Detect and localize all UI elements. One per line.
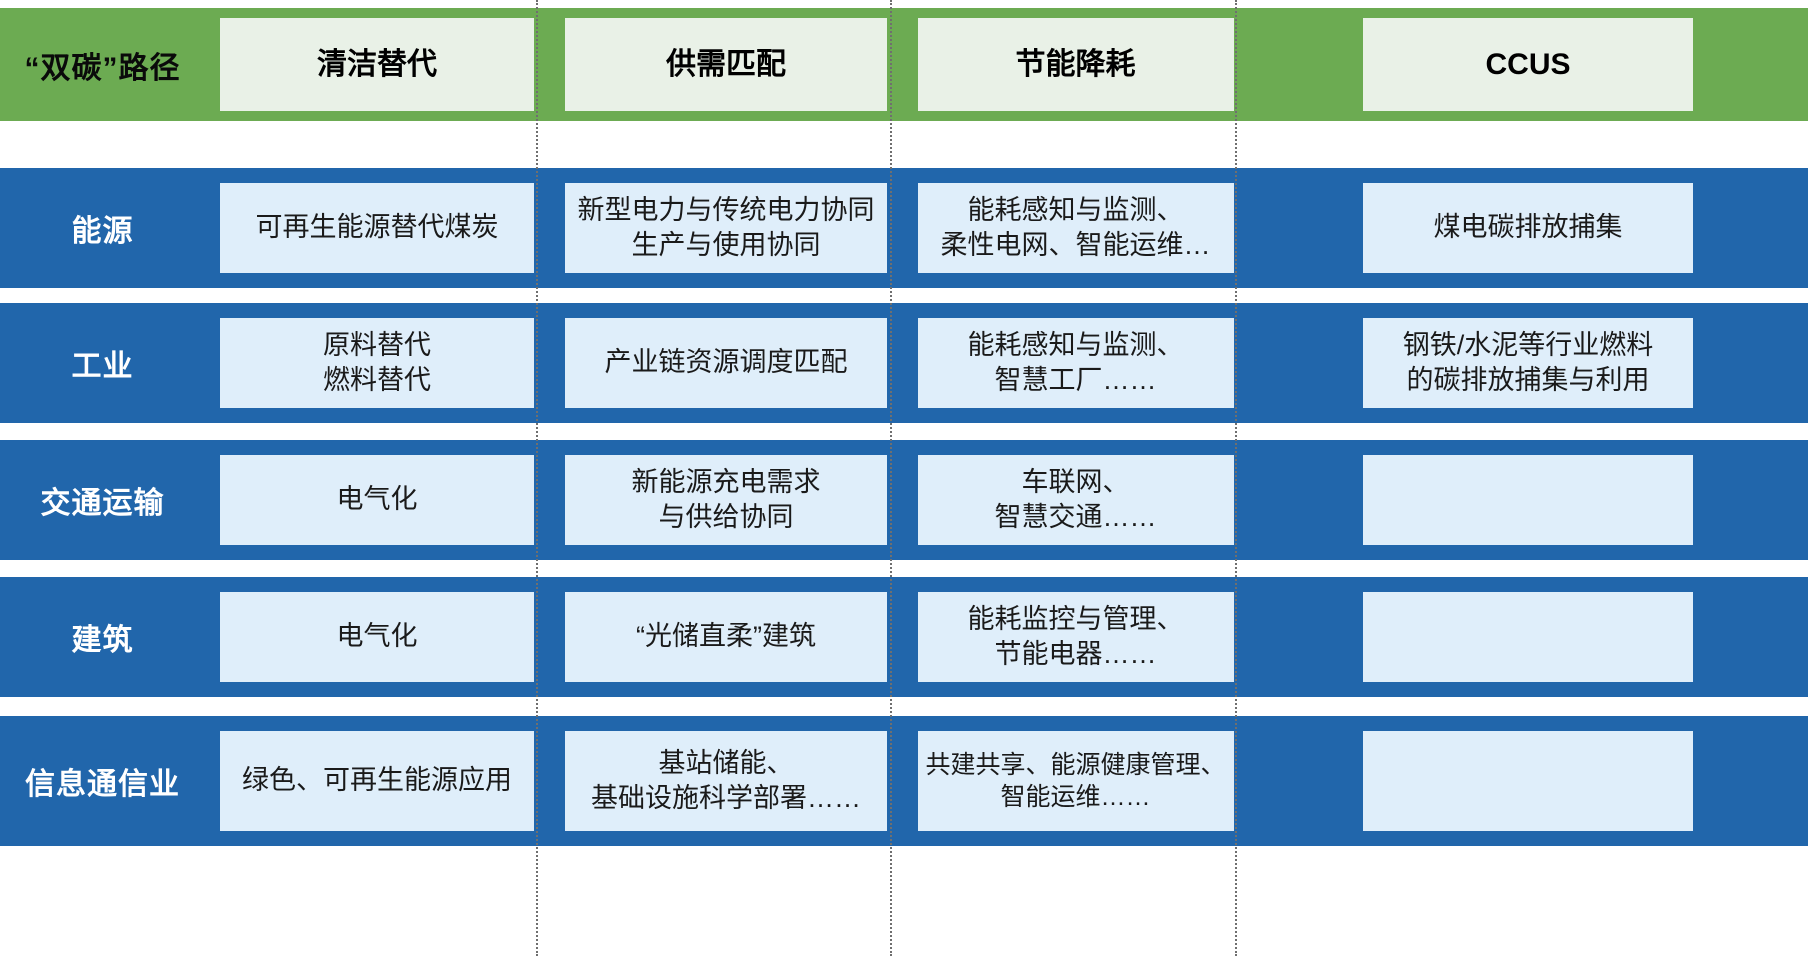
cell-energy-energy-saving[interactable]: 能耗感知与监测、 柔性电网、智能运维… <box>903 168 1248 288</box>
header-label-energy-saving: 节能降耗 <box>918 18 1234 111</box>
cell-transport-ccus[interactable] <box>1248 440 1808 560</box>
cell-text-industry-clean-substitution: 原料替代 燃料替代 <box>220 318 534 408</box>
cell-text-industry-energy-saving: 能耗感知与监测、 智慧工厂…… <box>918 318 1234 408</box>
cell-energy-ccus[interactable]: 煤电碳排放捕集 <box>1248 168 1808 288</box>
cell-text-building-supply-demand-match: “光储直柔”建筑 <box>565 592 887 682</box>
cell-building-ccus[interactable] <box>1248 577 1808 697</box>
dual-carbon-pathway-matrix: “双碳”路径 清洁替代 供需匹配 节能降耗 CCUS 能源 可再生能源替代煤炭 … <box>0 0 1808 956</box>
corner-label: “双碳”路径 <box>0 43 205 87</box>
cell-text-industry-ccus: 钢铁/水泥等行业燃料 的碳排放捕集与利用 <box>1363 318 1693 408</box>
cell-transport-clean-substitution[interactable]: 电气化 <box>205 440 549 560</box>
cell-ict-clean-substitution[interactable]: 绿色、可再生能源应用 <box>205 716 549 846</box>
header-label-ccus: CCUS <box>1363 18 1693 111</box>
cell-ict-ccus[interactable] <box>1248 716 1808 846</box>
cell-ict-supply-demand-match[interactable]: 基站储能、 基础设施科学部署…… <box>549 716 903 846</box>
cell-text-building-ccus <box>1363 592 1693 682</box>
cell-text-ict-ccus <box>1363 731 1693 831</box>
cell-transport-supply-demand-match[interactable]: 新能源充电需求 与供给协同 <box>549 440 903 560</box>
cell-building-clean-substitution[interactable]: 电气化 <box>205 577 549 697</box>
table-row-industry: 工业 原料替代 燃料替代 产业链资源调度匹配 能耗感知与监测、 智慧工厂…… 钢… <box>0 303 1808 423</box>
row-label-ict: 信息通信业 <box>0 759 205 803</box>
cell-text-transport-clean-substitution: 电气化 <box>220 455 534 545</box>
row-label-transport: 交通运输 <box>0 478 205 522</box>
cell-text-transport-ccus <box>1363 455 1693 545</box>
cell-text-energy-ccus: 煤电碳排放捕集 <box>1363 183 1693 273</box>
cell-industry-clean-substitution[interactable]: 原料替代 燃料替代 <box>205 303 549 423</box>
table-row-transport: 交通运输 电气化 新能源充电需求 与供给协同 车联网、 智慧交通…… <box>0 440 1808 560</box>
table-row-energy: 能源 可再生能源替代煤炭 新型电力与传统电力协同 生产与使用协同 能耗感知与监测… <box>0 168 1808 288</box>
row-label-energy: 能源 <box>0 206 205 250</box>
row-label-building: 建筑 <box>0 615 205 659</box>
cell-text-energy-supply-demand-match: 新型电力与传统电力协同 生产与使用协同 <box>565 183 887 273</box>
header-cell-energy-saving[interactable]: 节能降耗 <box>903 8 1248 121</box>
cell-text-transport-supply-demand-match: 新能源充电需求 与供给协同 <box>565 455 887 545</box>
header-cell-clean-substitution[interactable]: 清洁替代 <box>205 8 549 121</box>
cell-industry-ccus[interactable]: 钢铁/水泥等行业燃料 的碳排放捕集与利用 <box>1248 303 1808 423</box>
cell-industry-energy-saving[interactable]: 能耗感知与监测、 智慧工厂…… <box>903 303 1248 423</box>
cell-text-transport-energy-saving: 车联网、 智慧交通…… <box>918 455 1234 545</box>
cell-text-energy-clean-substitution: 可再生能源替代煤炭 <box>220 183 534 273</box>
cell-text-ict-clean-substitution: 绿色、可再生能源应用 <box>220 731 534 831</box>
table-row-ict: 信息通信业 绿色、可再生能源应用 基站储能、 基础设施科学部署…… 共建共享、能… <box>0 716 1808 846</box>
table-row-building: 建筑 电气化 “光储直柔”建筑 能耗监控与管理、 节能电器…… <box>0 577 1808 697</box>
header-label-clean-substitution: 清洁替代 <box>220 18 534 111</box>
cell-energy-clean-substitution[interactable]: 可再生能源替代煤炭 <box>205 168 549 288</box>
cell-text-energy-energy-saving: 能耗感知与监测、 柔性电网、智能运维… <box>918 183 1234 273</box>
cell-text-industry-supply-demand-match: 产业链资源调度匹配 <box>565 318 887 408</box>
table-header-row: “双碳”路径 清洁替代 供需匹配 节能降耗 CCUS <box>0 8 1808 121</box>
cell-transport-energy-saving[interactable]: 车联网、 智慧交通…… <box>903 440 1248 560</box>
cell-building-supply-demand-match[interactable]: “光储直柔”建筑 <box>549 577 903 697</box>
cell-text-ict-energy-saving: 共建共享、能源健康管理、 智能运维…… <box>918 731 1234 831</box>
cell-text-building-clean-substitution: 电气化 <box>220 592 534 682</box>
cell-text-building-energy-saving: 能耗监控与管理、 节能电器…… <box>918 592 1234 682</box>
header-label-supply-demand-match: 供需匹配 <box>565 18 887 111</box>
cell-industry-supply-demand-match[interactable]: 产业链资源调度匹配 <box>549 303 903 423</box>
header-cell-ccus[interactable]: CCUS <box>1248 8 1808 121</box>
cell-building-energy-saving[interactable]: 能耗监控与管理、 节能电器…… <box>903 577 1248 697</box>
header-cell-supply-demand-match[interactable]: 供需匹配 <box>549 8 903 121</box>
cell-ict-energy-saving[interactable]: 共建共享、能源健康管理、 智能运维…… <box>903 716 1248 846</box>
row-label-industry: 工业 <box>0 341 205 385</box>
cell-energy-supply-demand-match[interactable]: 新型电力与传统电力协同 生产与使用协同 <box>549 168 903 288</box>
cell-text-ict-supply-demand-match: 基站储能、 基础设施科学部署…… <box>565 731 887 831</box>
